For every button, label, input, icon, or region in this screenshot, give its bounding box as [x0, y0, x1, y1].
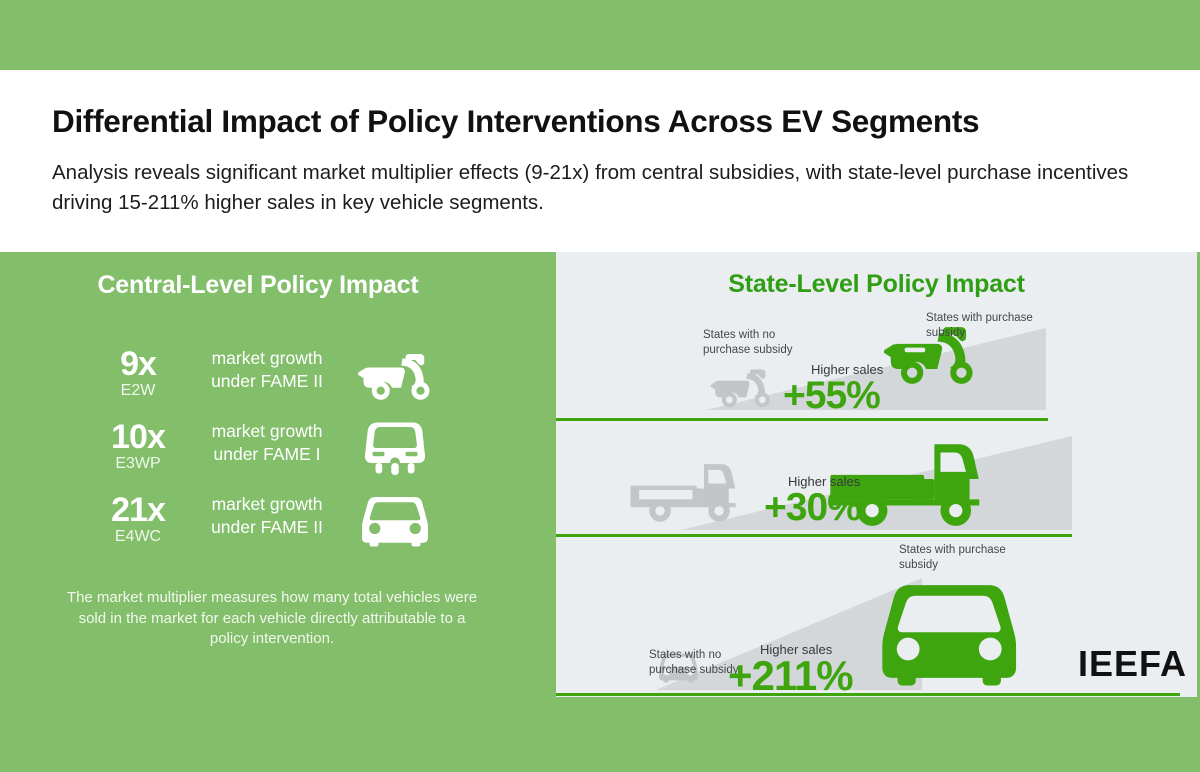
row-wedge-and-vehicles — [556, 422, 1197, 536]
state-row-two-wheeler: States with no purchase subsidy States w… — [556, 310, 1197, 420]
percent-value: +30% — [764, 487, 861, 529]
central-policy-panel: Central-Level Policy Impact 9x E2W marke… — [0, 252, 556, 697]
no-subsidy-label: States with no purchase subsidy — [703, 328, 823, 357]
subsidy-label: States with purchase subsidy — [926, 311, 1036, 340]
stat-segment: E4WC — [88, 527, 188, 546]
stat-description: market growth under FAME II — [192, 493, 342, 539]
stat-row: 10x E3WP market growth under FAME I — [0, 418, 556, 484]
stat-row: 21x E4WC market growth under FAME II — [0, 491, 556, 557]
infographic-page: Differential Impact of Policy Interventi… — [0, 0, 1200, 772]
auto-rickshaw-icon — [350, 416, 440, 480]
state-policy-panel: State-Level Policy Impact — [556, 252, 1197, 697]
row-baseline — [556, 534, 1072, 537]
top-green-band — [0, 0, 1200, 70]
header: Differential Impact of Policy Interventi… — [0, 70, 1200, 252]
stat-segment: E2W — [88, 381, 188, 400]
stat-multiplier: 9x — [88, 345, 188, 383]
stat-multiplier: 21x — [88, 491, 188, 529]
scooter-icon — [350, 343, 440, 407]
central-panel-title: Central-Level Policy Impact — [0, 271, 516, 300]
subsidy-label: States with purchase subsidy — [899, 543, 1009, 572]
row-baseline — [556, 693, 1180, 696]
stat-description: market growth under FAME II — [192, 347, 342, 393]
stat-segment: E3WP — [88, 454, 188, 473]
stat-row: 9x E2W market growth under FAME II — [0, 345, 556, 411]
percent-value: +211% — [728, 655, 853, 697]
stat-description: market growth under FAME I — [192, 420, 342, 466]
ieefa-logo: IEEFA — [1078, 643, 1187, 685]
page-subtitle: Analysis reveals significant market mult… — [52, 158, 1142, 218]
footnote-text: The market multiplier measures how many … — [62, 588, 482, 650]
car-icon — [350, 489, 440, 553]
state-row-three-wheeler: Higher sales +30% — [556, 422, 1197, 536]
percent-value: +55% — [783, 375, 880, 417]
state-panel-title: State-Level Policy Impact — [556, 270, 1197, 299]
row-baseline — [556, 418, 1048, 421]
stat-multiplier: 10x — [88, 418, 188, 456]
page-title: Differential Impact of Policy Interventi… — [52, 103, 979, 140]
